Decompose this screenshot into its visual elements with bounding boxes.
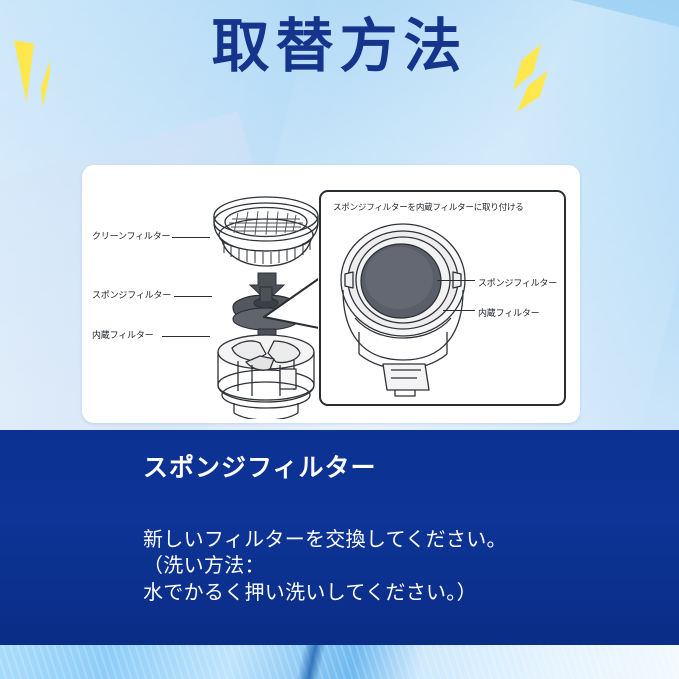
header: 取替方法 [0,0,679,118]
label-inner-filter: 内蔵フィルター [92,332,153,341]
footer-streak-pattern [0,645,679,679]
footer-decorative-strip [0,645,679,679]
panel-heading: スポンジフィルター [143,448,377,484]
leader-line-callout-inner [443,310,475,311]
diagram-card: クリーンフィルター スポンジフィルター 内蔵フィルター [82,165,580,423]
callout-label-inner-filter: 内蔵フィルター [478,306,539,319]
callout-label-sponge-filter: スポンジフィルター [478,276,557,289]
page-title: 取替方法 [0,17,679,75]
label-sponge-filter: スポンジフィルター [92,292,171,301]
product-instruction-image: 取替方法 クリーンフィルター スポンジフィルター 内蔵フィルター [0,0,679,679]
assembled-filter-illustration [329,214,489,400]
label-clean-filter: クリーンフィルター [92,233,170,242]
callout-box: スポンジフィルターを内蔵フィルターに取り付ける [319,190,566,406]
callout-title: スポンジフィルターを内蔵フィルターに取り付ける [333,201,524,213]
leader-line-callout-sponge [437,280,475,281]
panel-body-text: 新しいフィルターを交換してください。 （洗い方法： 水でかるく押い洗いしてくださ… [143,526,507,605]
description-panel: スポンジフィルター 新しいフィルターを交換してください。 （洗い方法： 水でかる… [0,430,679,645]
